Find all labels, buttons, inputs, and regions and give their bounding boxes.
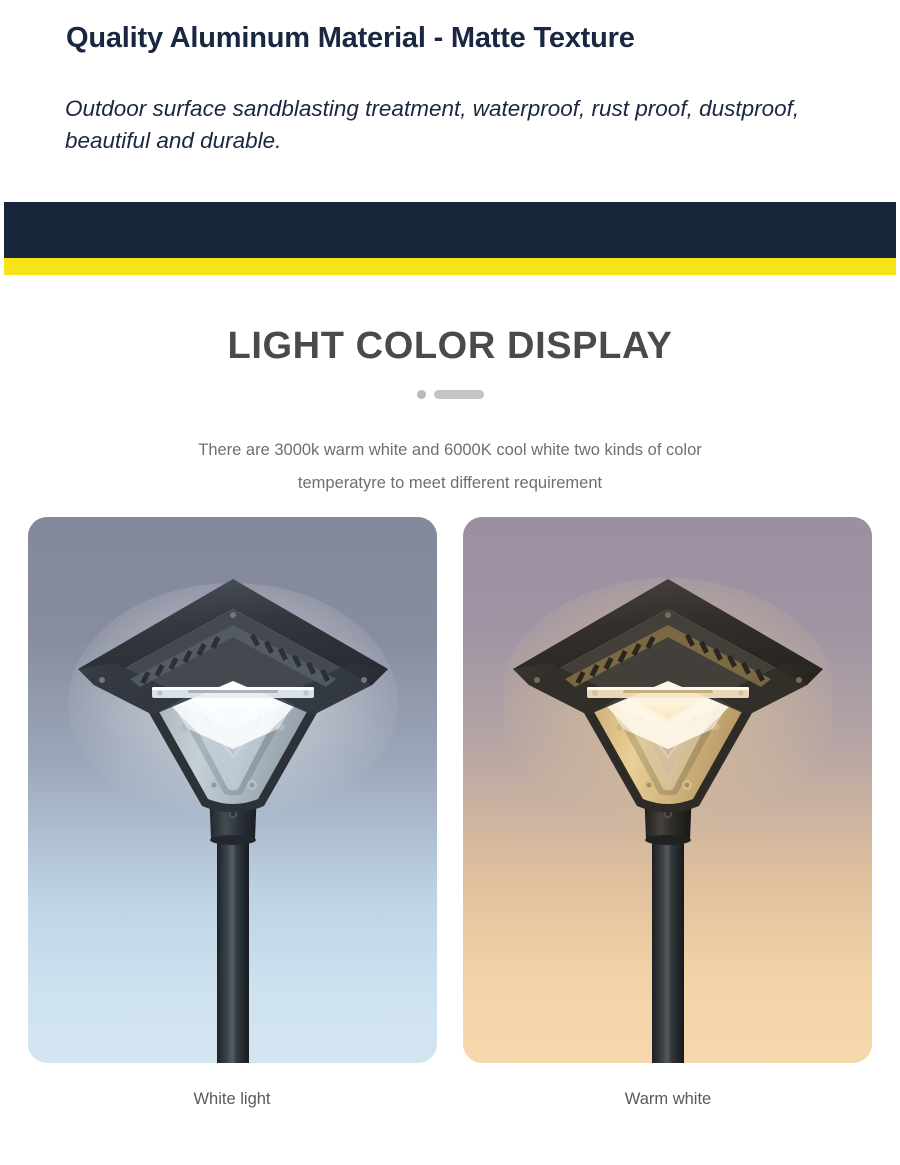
gallery-item-white-light[interactable] <box>28 517 437 1063</box>
lamp-illustration-warm <box>503 563 833 1063</box>
gallery-item-warm-white[interactable] <box>463 517 872 1063</box>
lamp-illustration-white <box>68 563 398 1063</box>
page-subtitle: Outdoor surface sandblasting treatment, … <box>65 93 855 158</box>
banner-navy-bar <box>4 202 896 258</box>
gallery-caption-warm-white: Warm white <box>518 1090 818 1109</box>
ornament-dot-icon <box>417 390 426 399</box>
section-title: LIGHT COLOR DISPLAY <box>0 325 900 368</box>
section-description-line-1: There are 3000k warm white and 6000K coo… <box>0 434 900 467</box>
section-divider-ornament <box>0 390 900 399</box>
page-title: Quality Aluminum Material - Matte Textur… <box>66 22 635 55</box>
gallery-caption-white-light: White light <box>82 1090 382 1109</box>
product-detail-page: Quality Aluminum Material - Matte Textur… <box>0 0 900 1165</box>
banner <box>4 202 896 275</box>
ornament-bar-icon <box>434 390 484 399</box>
gallery <box>0 517 900 1077</box>
banner-yellow-bar <box>4 258 896 275</box>
section-description: There are 3000k warm white and 6000K coo… <box>0 434 900 500</box>
section-description-line-2: temperatyre to meet different requiremen… <box>0 467 900 500</box>
